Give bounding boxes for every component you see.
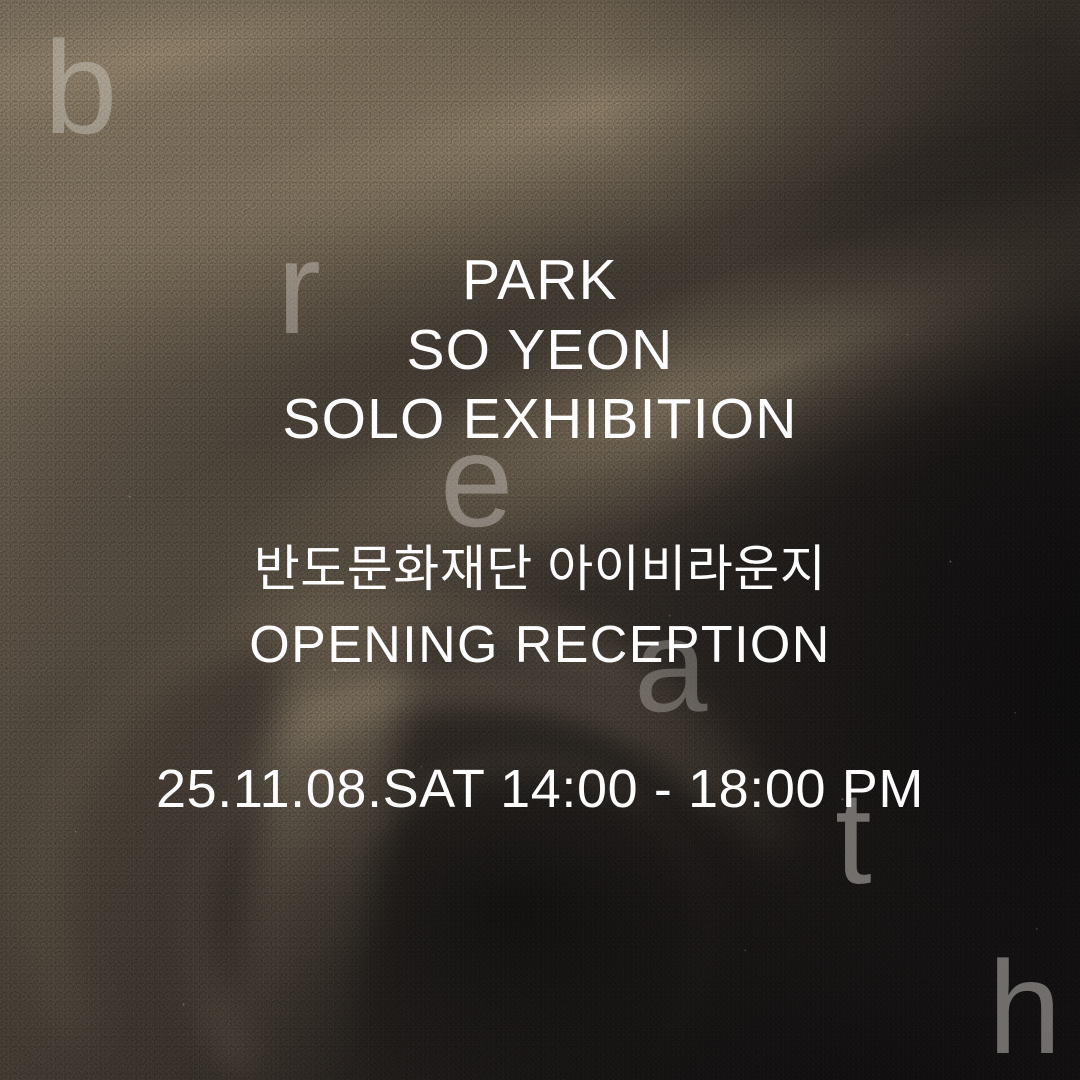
- title-line-artist-givenname: SO YEON: [0, 316, 1080, 386]
- opening-reception-label: OPENING RECEPTION: [0, 613, 1080, 679]
- event-date-time: 25.11.08.SAT 14:00 - 18:00 PM: [0, 758, 1080, 820]
- schedule-block: 25.11.08.SAT 14:00 - 18:00 PM: [0, 758, 1080, 820]
- exhibition-title: PARK SO YEON SOLO EXHIBITION: [0, 246, 1080, 455]
- title-line-exhibition-type: SOLO EXHIBITION: [0, 385, 1080, 455]
- venue-name-korean: 반도문화재단 아이비라운지: [0, 538, 1080, 601]
- exhibition-poster: b r e a t h PARK SO YEON SOLO EXHIBITION…: [0, 0, 1080, 1080]
- poster-content: PARK SO YEON SOLO EXHIBITION 반도문화재단 아이비라…: [0, 0, 1080, 1080]
- venue-and-reception: 반도문화재단 아이비라운지 OPENING RECEPTION: [0, 538, 1080, 679]
- title-line-artist-surname: PARK: [0, 246, 1080, 316]
